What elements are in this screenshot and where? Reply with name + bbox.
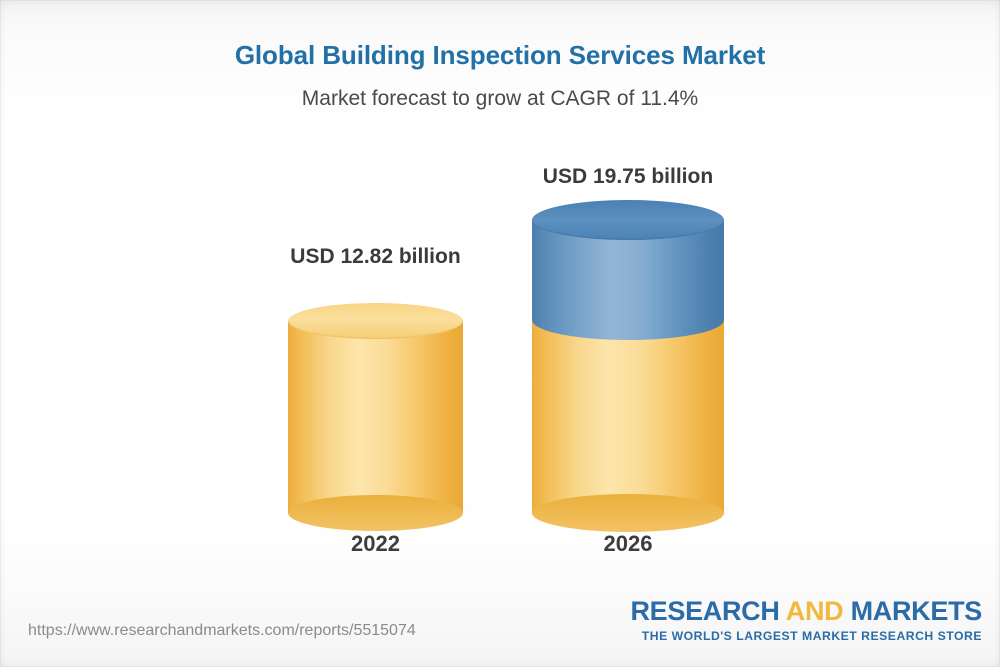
logo-word-markets: MARKETS xyxy=(843,596,982,626)
cylinder-top-cap-2026 xyxy=(532,200,724,240)
cylinder-segment-base-2026 xyxy=(532,320,724,513)
segment-foot xyxy=(532,300,724,340)
segment-body xyxy=(288,321,463,513)
cylinder-top-cap-2022 xyxy=(288,303,463,339)
category-label-2026: 2026 xyxy=(532,531,724,557)
cylinder-2026 xyxy=(532,200,724,513)
plot-area: USD 12.82 billion 2022 USD 19.75 billion xyxy=(0,0,1000,667)
cylinder-segment-base-2022 xyxy=(288,321,463,513)
segment-foot xyxy=(532,494,724,532)
cylinder-2022 xyxy=(288,303,463,513)
segment-foot xyxy=(288,495,463,531)
logo-word-and: AND xyxy=(786,596,844,626)
chart-canvas: Global Building Inspection Services Mark… xyxy=(0,0,1000,667)
bar-value-label-2026: USD 19.75 billion xyxy=(532,165,724,189)
logo-wordmark: RESEARCH AND MARKETS xyxy=(630,598,982,625)
brand-logo[interactable]: RESEARCH AND MARKETS THE WORLD'S LARGEST… xyxy=(630,598,982,642)
source-url[interactable]: https://www.researchandmarkets.com/repor… xyxy=(28,622,416,640)
logo-tagline: THE WORLD'S LARGEST MARKET RESEARCH STOR… xyxy=(630,630,982,642)
segment-body xyxy=(532,320,724,513)
logo-word-research: RESEARCH xyxy=(630,596,785,626)
bar-value-label-2022: USD 12.82 billion xyxy=(288,245,463,269)
category-label-2022: 2022 xyxy=(288,531,463,557)
